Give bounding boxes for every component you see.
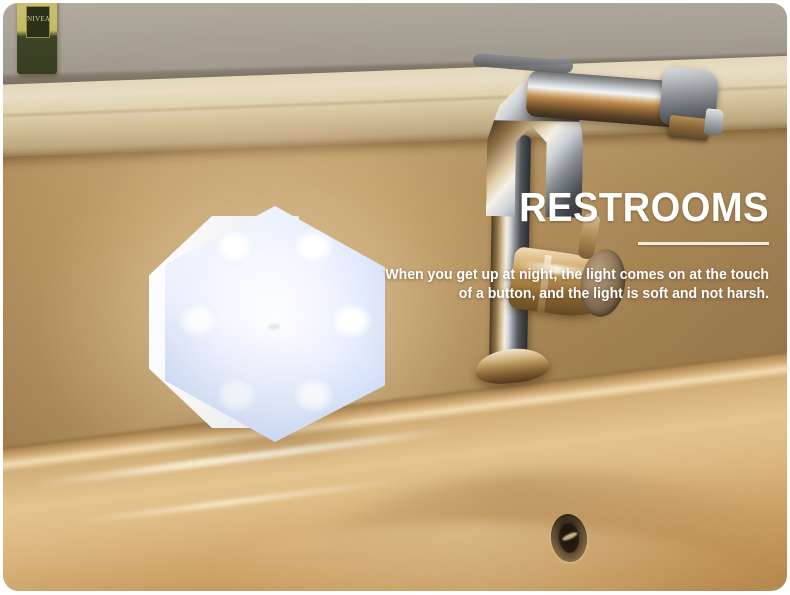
bathroom-photo: NIVEA [3, 2, 787, 591]
faucet-aerator-tip [704, 108, 725, 136]
bottle-label-text: NIVEA [27, 15, 49, 23]
title-divider [638, 242, 769, 245]
overlay-subtitle: When you get up at night, the light come… [385, 266, 769, 304]
product-image-scene: NIVEA [0, 0, 790, 595]
page-title: RESTROOMS [401, 184, 769, 230]
faucet-spout-top-band [472, 53, 575, 74]
hexagonal-led-night-light [149, 198, 385, 450]
overlay-text-block: RESTROOMS When you get up at night, the … [373, 184, 769, 304]
toiletry-bottle: NIVEA [17, 2, 57, 74]
bottle-label: NIVEA [26, 6, 50, 38]
faucet-base [473, 345, 550, 387]
